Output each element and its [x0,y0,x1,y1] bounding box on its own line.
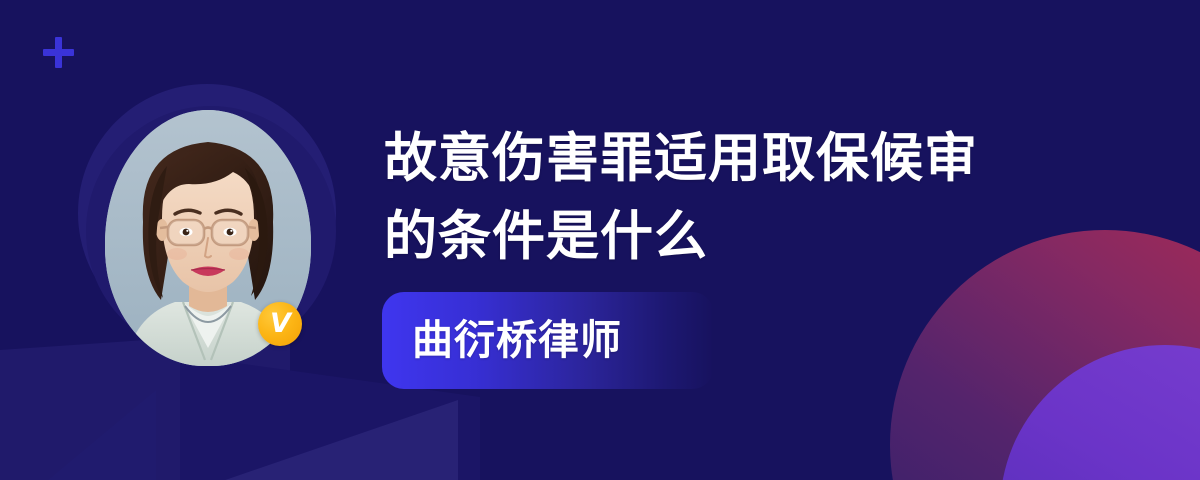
lawyer-article-banner: V 故意伤害罪适用取保候审 的条件是什么 曲衍桥律师 [0,0,1200,480]
lawyer-name-label: 曲衍桥律师 [412,320,622,361]
verified-badge-glyph: V [258,301,302,345]
plus-icon [43,37,74,68]
avatar[interactable]: V [78,84,336,382]
headline-block: 故意伤害罪适用取保候审 的条件是什么 [384,120,1084,276]
verified-badge-icon: V [258,302,302,346]
lawyer-name-badge[interactable]: 曲衍桥律师 [382,292,714,389]
page-title: 故意伤害罪适用取保候审 的条件是什么 [384,120,1084,276]
